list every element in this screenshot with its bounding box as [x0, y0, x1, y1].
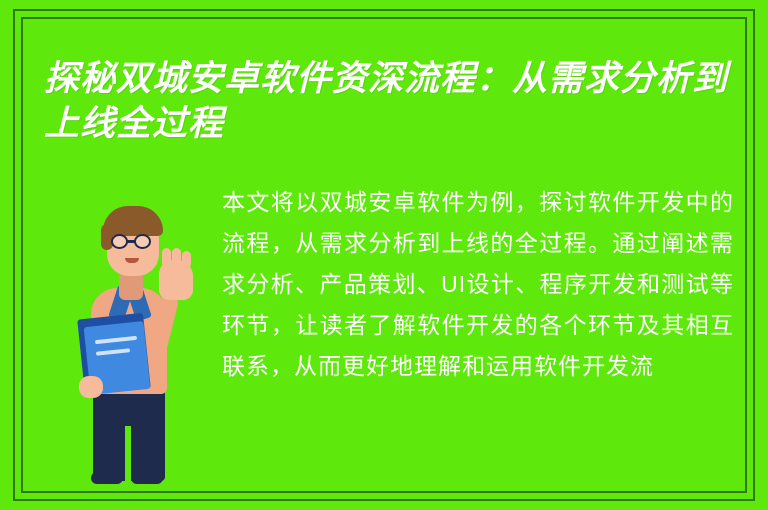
- poster-title: 探秘双城安卓软件资深流程：从需求分析到上线全过程: [44, 56, 734, 146]
- glasses-left-lens-icon: [111, 234, 128, 249]
- leg-gap-shape: [125, 426, 131, 482]
- left-shoe-shape: [91, 472, 123, 484]
- waving-hand-shape: [159, 260, 193, 300]
- glasses-right-lens-icon: [134, 234, 151, 249]
- right-shoe-shape: [131, 472, 163, 484]
- glasses-bridge-icon: [127, 240, 135, 243]
- lower-hand-shape: [79, 376, 103, 398]
- poster-image: 探秘双城安卓软件资深流程：从需求分析到上线全过程 本文将以双城安卓软件为例，探讨…: [0, 0, 768, 510]
- neck-shape: [119, 272, 143, 300]
- illustration-man-waving-holding-book: [55, 176, 215, 476]
- poster-body-text: 本文将以双城安卓软件为例，探讨软件开发中的流程，从需求分析到上线的全过程。通过阐…: [222, 182, 734, 387]
